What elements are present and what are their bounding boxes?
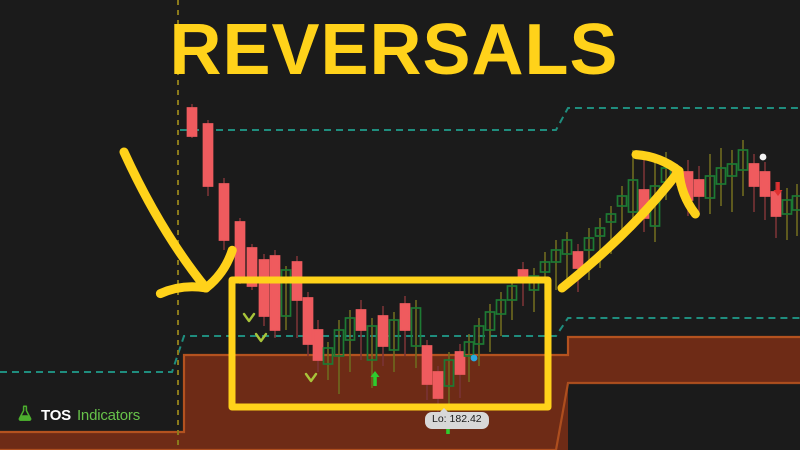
- brand-primary: TOS: [41, 407, 71, 424]
- price-callout-label[interactable]: Lo: 182.42: [425, 412, 489, 429]
- brand-logo: TOS Indicators: [16, 404, 140, 427]
- page-title: REVERSALS: [0, 14, 800, 86]
- brand-secondary: Indicators: [77, 407, 140, 424]
- flask-icon: [16, 404, 34, 427]
- screenshot-root: REVERSALS TOS Indicators Lo: 182.42: [0, 0, 800, 450]
